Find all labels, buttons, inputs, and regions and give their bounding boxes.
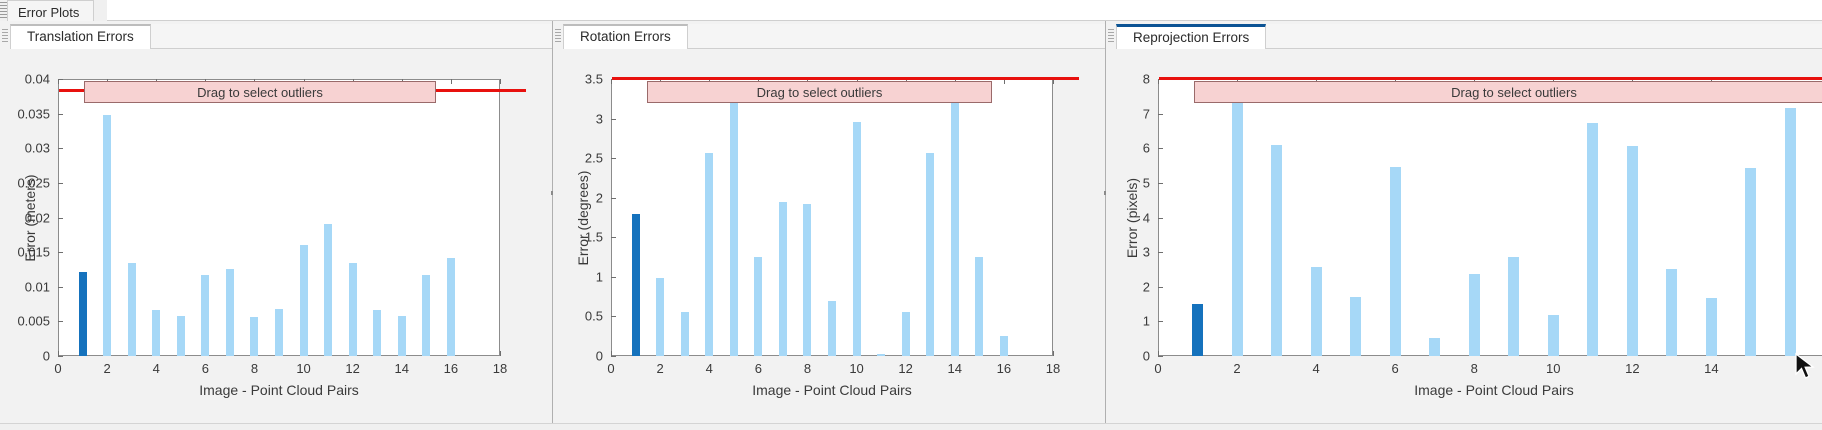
y-axis-tick-label: 0 xyxy=(596,349,603,364)
x-axis-label: Image - Point Cloud Pairs xyxy=(611,382,1053,398)
y-axis-tick-label: 0.5 xyxy=(585,309,603,324)
chart-rotation-errors[interactable]: 00.511.522.533.5024681012141618Drag to s… xyxy=(553,49,1106,430)
x-axis-tick-label: 8 xyxy=(804,361,811,376)
x-axis-tick-mark xyxy=(1053,351,1054,356)
y-axis-tick-mark xyxy=(58,356,63,357)
y-axis-tick-label: 5 xyxy=(1143,175,1150,190)
bar[interactable] xyxy=(398,316,406,356)
y-axis-tick-label: 0 xyxy=(1143,349,1150,364)
y-axis-tick-mark xyxy=(1158,183,1163,184)
x-axis-tick-label: 16 xyxy=(997,361,1011,376)
x-axis-tick-label: 12 xyxy=(1625,361,1639,376)
y-axis-tick-mark xyxy=(58,321,63,322)
tab-reprojection-errors[interactable]: Reprojection Errors xyxy=(1116,24,1266,49)
x-axis-tick-mark xyxy=(500,351,501,356)
tab-rotation-errors[interactable]: Rotation Errors xyxy=(563,24,688,49)
bar[interactable] xyxy=(1311,267,1322,356)
bar[interactable] xyxy=(1548,315,1559,356)
x-axis-tick-mark xyxy=(1158,351,1159,356)
y-axis-tick-mark xyxy=(611,237,616,238)
x-axis-tick-label: 2 xyxy=(1233,361,1240,376)
y-axis-tick-mark xyxy=(611,119,616,120)
bar[interactable] xyxy=(877,354,885,356)
x-axis-tick-label: 0 xyxy=(54,361,61,376)
y-axis-tick-label: 8 xyxy=(1143,72,1150,87)
bar[interactable] xyxy=(951,100,959,356)
y-axis-tick-mark xyxy=(58,148,63,149)
x-axis-tick-label: 6 xyxy=(1392,361,1399,376)
bar[interactable] xyxy=(1745,168,1756,356)
bar[interactable] xyxy=(975,257,983,356)
y-axis-label: Error (meters) xyxy=(22,174,38,261)
bar[interactable] xyxy=(1000,336,1008,356)
y-axis-tick-label: 7 xyxy=(1143,106,1150,121)
bar[interactable] xyxy=(1429,338,1440,356)
x-axis-tick-label: 6 xyxy=(202,361,209,376)
outer-tab-filler xyxy=(107,0,1822,21)
x-axis-tick-label: 0 xyxy=(607,361,614,376)
plot-area[interactable] xyxy=(1158,79,1822,356)
status-bar xyxy=(0,423,1822,430)
bar[interactable] xyxy=(1785,108,1796,356)
bar[interactable] xyxy=(177,316,185,356)
panel-translation-errors: Translation Errors 00.0050.010.0150.020.… xyxy=(0,21,553,430)
y-axis-tick-label: 0 xyxy=(43,349,50,364)
y-axis-tick-mark xyxy=(58,114,63,115)
bar[interactable] xyxy=(1390,167,1401,356)
x-axis-label: Image - Point Cloud Pairs xyxy=(1158,382,1822,398)
bar[interactable] xyxy=(1508,257,1519,356)
chart-reprojection-errors[interactable]: 01234567802468101214Drag to select outli… xyxy=(1106,49,1822,430)
chart-translation-errors[interactable]: 00.0050.010.0150.020.0250.030.0350.04024… xyxy=(0,49,553,430)
panel-drag-grip-icon[interactable] xyxy=(555,29,561,43)
y-axis-tick-label: 3 xyxy=(1143,245,1150,260)
bar[interactable] xyxy=(1232,100,1243,356)
bar[interactable] xyxy=(447,258,455,356)
x-axis-tick-label: 6 xyxy=(755,361,762,376)
y-axis-tick-mark xyxy=(1158,287,1163,288)
y-axis-tick-mark xyxy=(611,158,616,159)
plot-panels: Translation Errors 00.0050.010.0150.020.… xyxy=(0,21,1822,430)
bar[interactable] xyxy=(1192,304,1203,356)
bar[interactable] xyxy=(422,275,430,356)
x-axis-tick-label: 16 xyxy=(444,361,458,376)
bar[interactable] xyxy=(1350,297,1361,356)
bar[interactable] xyxy=(1271,145,1282,356)
bar[interactable] xyxy=(349,263,357,356)
x-axis-tick-label: 2 xyxy=(656,361,663,376)
bar[interactable] xyxy=(373,310,381,356)
bar[interactable] xyxy=(1627,146,1638,356)
x-axis-tick-label: 4 xyxy=(1312,361,1319,376)
y-axis-tick-mark xyxy=(611,198,616,199)
x-axis-tick-label: 14 xyxy=(948,361,962,376)
bar[interactable] xyxy=(324,224,332,356)
bar[interactable] xyxy=(79,272,87,356)
x-axis-tick-label: 8 xyxy=(1471,361,1478,376)
bar[interactable] xyxy=(201,275,209,356)
inner-tab-filler-1 xyxy=(151,24,553,49)
y-axis-tick-label: 2 xyxy=(596,190,603,205)
x-axis-tick-label: 10 xyxy=(296,361,310,376)
drag-to-select-outliers-strip[interactable]: Drag to select outliers xyxy=(647,81,992,103)
bar[interactable] xyxy=(103,115,111,356)
bar[interactable] xyxy=(779,202,787,356)
bar[interactable] xyxy=(300,245,308,356)
y-axis-tick-mark xyxy=(1158,218,1163,219)
x-axis-tick-label: 18 xyxy=(1046,361,1060,376)
y-axis-tick-label: 2 xyxy=(1143,279,1150,294)
tab-label: Reprojection Errors xyxy=(1133,30,1249,45)
y-axis-tick-mark xyxy=(611,316,616,317)
panel-rotation-errors: Rotation Errors 00.511.522.533.502468101… xyxy=(553,21,1106,430)
x-axis-tick-label: 12 xyxy=(898,361,912,376)
y-axis-tick-mark xyxy=(58,218,63,219)
y-axis-tick-label: 0.03 xyxy=(25,141,50,156)
bar[interactable] xyxy=(828,301,836,356)
bar[interactable] xyxy=(754,257,762,356)
panel-reprojection-errors: Reprojection Errors 01234567802468101214… xyxy=(1106,21,1822,430)
bar[interactable] xyxy=(730,100,738,356)
bar[interactable] xyxy=(128,263,136,356)
bar[interactable] xyxy=(902,312,910,356)
x-axis-top-tick-mark xyxy=(58,79,59,84)
y-axis-tick-mark xyxy=(1158,114,1163,115)
x-axis-tick-label: 12 xyxy=(345,361,359,376)
bar[interactable] xyxy=(226,269,234,356)
y-axis-tick-label: 2.5 xyxy=(585,151,603,166)
drag-to-select-outliers-strip[interactable]: Drag to select outliers xyxy=(84,81,436,103)
bar[interactable] xyxy=(705,153,713,356)
y-axis-tick-mark xyxy=(611,356,616,357)
bar[interactable] xyxy=(1666,269,1677,356)
outlier-threshold-line[interactable] xyxy=(1159,77,1822,80)
y-axis-tick-label: 1 xyxy=(596,269,603,284)
outer-tab-strip: Error Plots xyxy=(0,0,1822,21)
y-axis-tick-label: 3.5 xyxy=(585,72,603,87)
y-axis-tick-mark xyxy=(1158,356,1163,357)
y-axis-tick-mark xyxy=(58,183,63,184)
outer-tab-label: Error Plots xyxy=(18,5,79,20)
x-axis-tick-label: 14 xyxy=(1704,361,1718,376)
tab-label: Translation Errors xyxy=(27,29,134,44)
x-axis-tick-label: 10 xyxy=(1546,361,1560,376)
inner-tab-strip-2: Rotation Errors xyxy=(553,21,1106,49)
panel-drag-grip-icon[interactable] xyxy=(1108,29,1114,43)
x-axis-top-tick-mark xyxy=(500,79,501,84)
y-axis-tick-label: 0.04 xyxy=(25,72,50,87)
y-axis-tick-label: 1 xyxy=(1143,314,1150,329)
x-axis-tick-label: 18 xyxy=(493,361,507,376)
x-axis-tick-label: 4 xyxy=(706,361,713,376)
bar[interactable] xyxy=(632,214,640,356)
inner-tab-strip-1: Translation Errors xyxy=(0,21,553,49)
y-axis-tick-mark xyxy=(611,277,616,278)
outer-tab-error-plots[interactable]: Error Plots xyxy=(7,0,94,21)
y-axis-tick-label: 0.035 xyxy=(17,106,50,121)
y-axis-tick-label: 0.005 xyxy=(17,314,50,329)
bar[interactable] xyxy=(152,310,160,356)
bar[interactable] xyxy=(853,122,861,356)
x-axis-top-tick-mark xyxy=(451,79,452,84)
x-axis-tick-label: 10 xyxy=(849,361,863,376)
inner-tab-filler-2 xyxy=(688,24,1106,49)
tab-translation-errors[interactable]: Translation Errors xyxy=(10,24,151,49)
x-axis-tick-label: 8 xyxy=(251,361,258,376)
drag-grip-icon[interactable] xyxy=(0,2,7,18)
bar[interactable] xyxy=(803,204,811,356)
x-axis-tick-mark xyxy=(611,351,612,356)
x-axis-tick-label: 2 xyxy=(103,361,110,376)
panel-drag-grip-icon[interactable] xyxy=(2,29,8,43)
y-axis-tick-mark xyxy=(58,287,63,288)
bar[interactable] xyxy=(656,278,664,356)
inner-tab-strip-3: Reprojection Errors xyxy=(1106,21,1822,49)
tab-label: Rotation Errors xyxy=(580,29,671,44)
y-axis-tick-label: 6 xyxy=(1143,141,1150,156)
y-axis-tick-label: 4 xyxy=(1143,210,1150,225)
outlier-threshold-line[interactable] xyxy=(612,77,1079,80)
bar[interactable] xyxy=(926,153,934,356)
y-axis-label: Error (degrees) xyxy=(575,170,591,265)
y-axis-tick-label: 0.01 xyxy=(25,279,50,294)
inner-tab-filler-3 xyxy=(1266,24,1822,49)
bar[interactable] xyxy=(1469,274,1480,356)
bar[interactable] xyxy=(275,309,283,356)
bar[interactable] xyxy=(250,317,258,356)
y-axis-label: Error (pixels) xyxy=(1124,177,1140,257)
y-axis-tick-label: 3 xyxy=(596,111,603,126)
drag-to-select-outliers-strip[interactable]: Drag to select outliers xyxy=(1194,81,1822,103)
x-axis-tick-label: 4 xyxy=(153,361,160,376)
bar[interactable] xyxy=(681,312,689,356)
y-axis-tick-mark xyxy=(1158,252,1163,253)
x-axis-tick-mark xyxy=(58,351,59,356)
bar[interactable] xyxy=(1706,298,1717,356)
x-axis-label: Image - Point Cloud Pairs xyxy=(58,382,500,398)
x-axis-tick-label: 14 xyxy=(395,361,409,376)
bar[interactable] xyxy=(1587,123,1598,356)
y-axis-tick-mark xyxy=(1158,148,1163,149)
y-axis-tick-mark xyxy=(1158,321,1163,322)
y-axis-tick-mark xyxy=(58,252,63,253)
x-axis-tick-label: 0 xyxy=(1154,361,1161,376)
